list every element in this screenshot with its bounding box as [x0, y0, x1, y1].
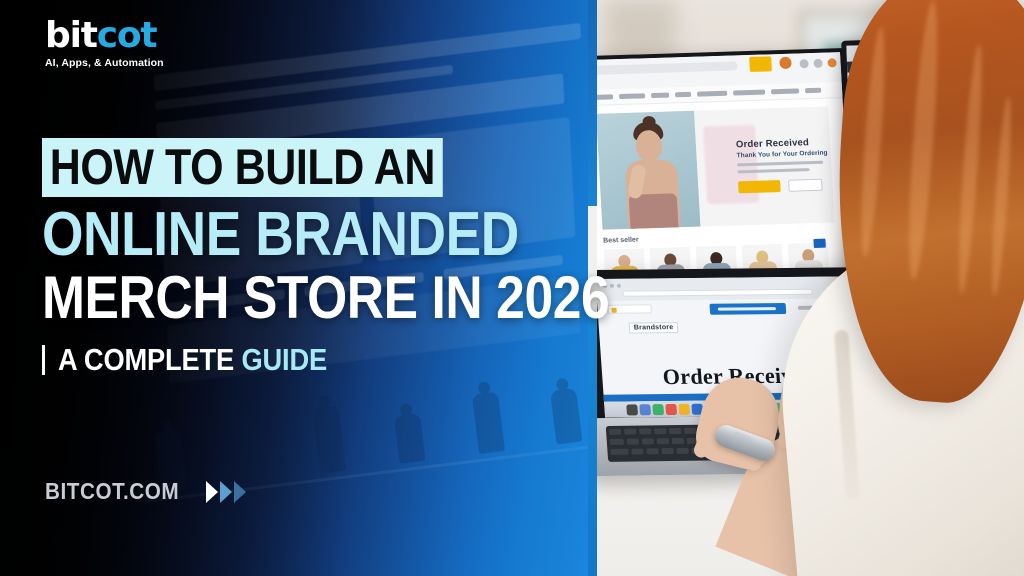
brand-chip: Brandstore: [629, 322, 679, 333]
address-bar[interactable]: [622, 289, 813, 297]
bookmark-item[interactable]: [607, 304, 652, 313]
subtitle-part-white: A COMPLETE: [58, 342, 234, 377]
address-bar[interactable]: [588, 61, 738, 75]
logo-text-accent: cot: [97, 15, 157, 56]
subtitle-accent-bar: [42, 345, 45, 375]
url-text: BITCOT.COM: [45, 478, 179, 505]
section-label: Best seller: [603, 237, 639, 245]
chevron-right-icon: [206, 481, 218, 503]
brand-logo[interactable]: bitcot AI, Apps, & Automation: [45, 18, 164, 69]
profile-icon[interactable]: [827, 58, 837, 67]
headline-line-1: HOW TO BUILD AN: [42, 138, 443, 197]
chevron-right-icon: [220, 481, 232, 503]
chevron-group: [206, 481, 246, 503]
subtitle-row: A COMPLETE GUIDE: [42, 342, 582, 378]
hero-subheading: Thank You for Your Ordering: [736, 150, 827, 160]
promo-badge: [813, 239, 826, 248]
banner: bitcot AI, Apps, & Automation HOW TO BUI…: [0, 0, 1024, 576]
logo-wordmark: bitcot: [45, 18, 164, 54]
headline-line-2: ONLINE BRANDED: [42, 205, 506, 265]
subtitle-text: A COMPLETE GUIDE: [58, 342, 327, 378]
primary-action-button[interactable]: [709, 303, 786, 315]
footer-website-url[interactable]: BITCOT.COM: [45, 478, 246, 505]
store-logo: [749, 56, 772, 72]
headline-block: HOW TO BUILD AN ONLINE BRANDED MERCH STO…: [42, 138, 582, 378]
primary-cta-button[interactable]: [738, 180, 781, 193]
subtitle-part-accent: GUIDE: [241, 342, 327, 377]
chevron-right-icon: [234, 481, 246, 503]
logo-tagline: AI, Apps, & Automation: [45, 57, 164, 69]
hero-heading: Order Received: [736, 137, 810, 150]
secondary-cta-button[interactable]: [788, 179, 823, 192]
model-photo: [596, 111, 700, 230]
hero-banner: Order Received Thank You for Your Orderi…: [596, 107, 834, 230]
toolbar-icon[interactable]: [813, 59, 823, 68]
hero-photo: Order Received Thank You for Your Orderi…: [588, 0, 1024, 576]
hero-copy: Order Received Thank You for Your Orderi…: [694, 107, 834, 227]
headline-line-3: MERCH STORE IN 2026: [42, 269, 506, 327]
toolbar-icon[interactable]: [799, 59, 809, 68]
avatar[interactable]: [779, 57, 792, 69]
logo-text-primary: bit: [45, 15, 97, 56]
